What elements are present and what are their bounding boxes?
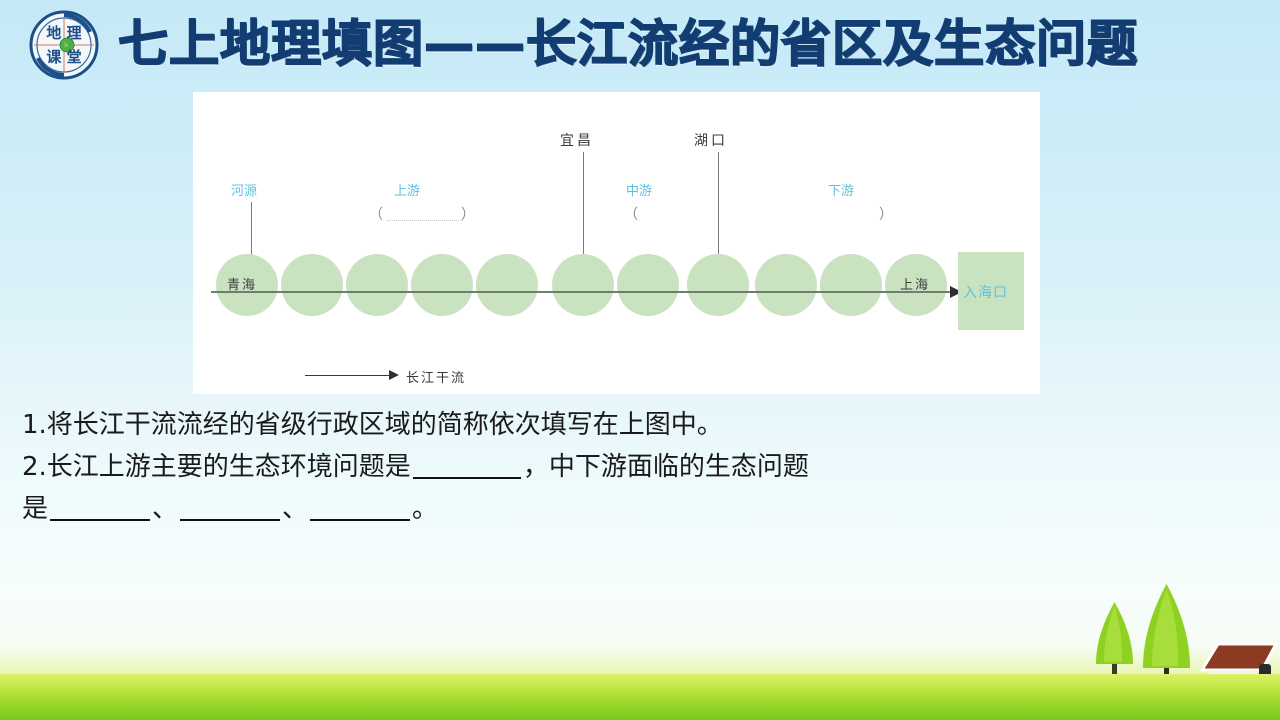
blank-shangyou: [387, 220, 463, 221]
answer-blank-4[interactable]: [310, 519, 410, 521]
slide-canvas: 地 理 课 堂 七上地理填图——长江流经的省区及生态问题 宜昌 湖口 河源 上游…: [0, 0, 1280, 720]
river-mouth-label: 入海口: [963, 282, 1008, 302]
answer-blank-1[interactable]: [413, 477, 521, 479]
logo-line2: 课 堂: [46, 48, 81, 66]
province-label-shanghai: 上海: [900, 274, 930, 293]
answer-blank-2[interactable]: [50, 519, 150, 521]
city-label-yichang: 宜昌: [560, 130, 594, 150]
province-circle[interactable]: [346, 254, 408, 316]
segment-label-zhongyou: 中游: [626, 180, 652, 199]
question-1: 1.将长江干流流经的省级行政区域的简称依次填写在上图中。: [22, 404, 1122, 446]
question-2-text-a: 2.长江上游主要的生态环境问题是: [22, 452, 411, 482]
brand-logo: 地 理 课 堂: [26, 10, 102, 80]
diagram-panel: 宜昌 湖口 河源 上游 （ ） 中游 （ 下游 ）: [193, 92, 1040, 394]
question-2-text-c: 是: [22, 494, 48, 524]
slide-header: 地 理 课 堂 七上地理填图——长江流经的省区及生态问题: [0, 0, 1280, 88]
tree-icon: [1096, 602, 1133, 682]
ground-strip: [0, 674, 1280, 720]
tree-icon: [1143, 584, 1190, 684]
province-circle[interactable]: [281, 254, 343, 316]
paren-open-zhongyou: （: [624, 204, 638, 224]
paren-open-shangyou: （: [369, 204, 383, 224]
segment-label-xiayou: 下游: [828, 180, 854, 199]
legend-line: [305, 375, 391, 376]
province-label-qinghai: 青海: [227, 274, 257, 293]
province-circle[interactable]: [476, 254, 538, 316]
question-2-text-b: ，中下游面临的生态问题: [523, 452, 809, 482]
river-axis: [211, 291, 953, 293]
paren-close-xiayou: ）: [879, 204, 893, 224]
question-block: 1.将长江干流流经的省级行政区域的简称依次填写在上图中。 2.长江上游主要的生态…: [22, 404, 1122, 530]
segment-label-shangyou: 上游: [394, 180, 420, 199]
logo-line1: 地 理: [46, 24, 81, 42]
segment-label-heyuan: 河源: [231, 180, 257, 199]
province-circle[interactable]: [755, 254, 817, 316]
answer-blank-3[interactable]: [180, 519, 280, 521]
question-2: 2.长江上游主要的生态环境问题是，中下游面临的生态问题 是、、。: [22, 446, 1122, 530]
province-circle[interactable]: [411, 254, 473, 316]
province-circle[interactable]: [687, 254, 749, 316]
legend-label: 长江干流: [406, 367, 466, 386]
globe-compass-badge-icon: 地 理 课 堂: [26, 10, 102, 80]
question-2-end: 。: [412, 494, 438, 524]
province-circle[interactable]: [820, 254, 882, 316]
question-2-sep-1: 、: [152, 494, 178, 524]
legend-arrowhead: [389, 370, 399, 380]
city-label-hukou: 湖口: [694, 130, 728, 150]
province-circle[interactable]: [552, 254, 614, 316]
yangtze-schematic: 宜昌 湖口 河源 上游 （ ） 中游 （ 下游 ）: [193, 92, 1040, 394]
question-2-sep-2: 、: [282, 494, 308, 524]
page-title: 七上地理填图——长江流经的省区及生态问题: [118, 8, 1138, 80]
province-circle[interactable]: [617, 254, 679, 316]
paren-close-shangyou: ）: [461, 204, 475, 224]
